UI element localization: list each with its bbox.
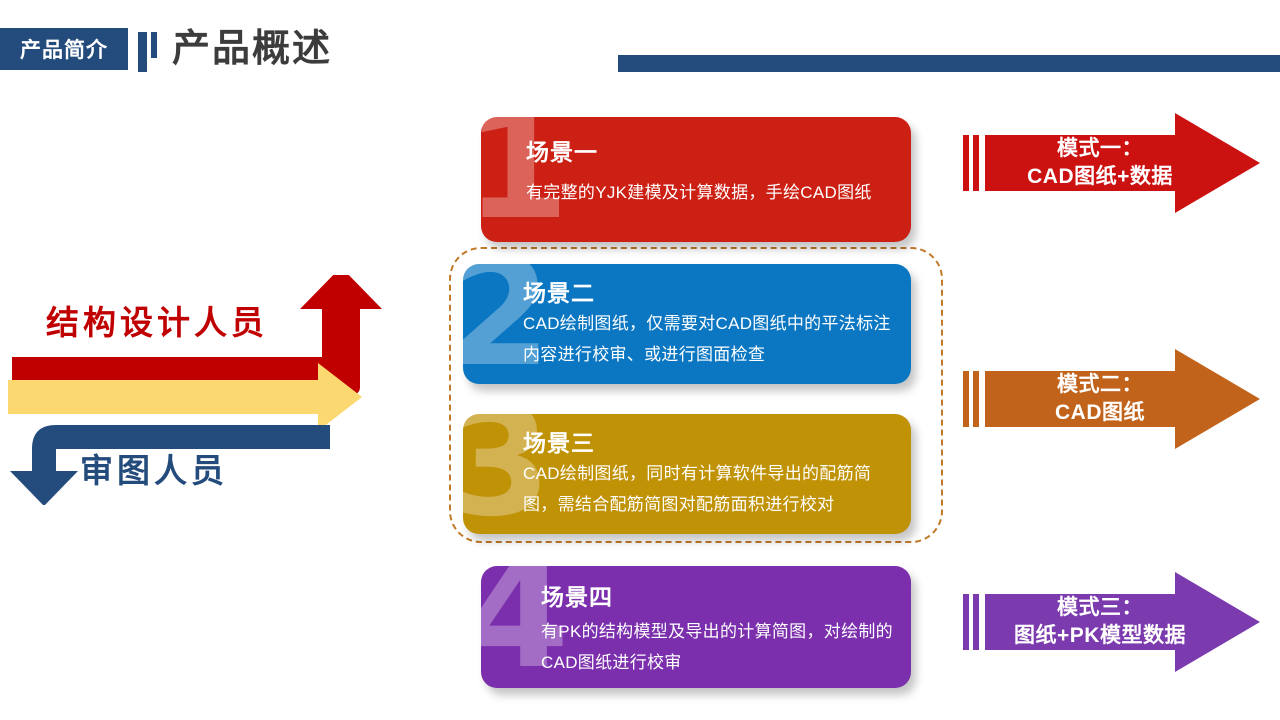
scenario-body-1: 有完整的YJK建模及计算数据，手绘CAD图纸 bbox=[526, 177, 898, 208]
page-title: 产品概述 bbox=[172, 26, 332, 72]
scenario-title-3: 场景三 bbox=[523, 424, 595, 458]
mode-line2-3: 图纸+PK模型数据 bbox=[1014, 622, 1186, 650]
mode-line1-2: 模式二： bbox=[1057, 371, 1143, 399]
scenario-title-1: 场景一 bbox=[526, 133, 598, 167]
header-rule bbox=[618, 55, 1280, 72]
role-label-reviewer: 审图人员 bbox=[80, 444, 340, 492]
scenario-body-4: 有PK的结构模型及导出的计算简图，对绘制的CAD图纸进行校审 bbox=[541, 616, 913, 678]
mode-arrow-text-3: 模式三： 图纸+PK模型数据 bbox=[1005, 572, 1195, 672]
mode-arrow-2[interactable]: 模式二： CAD图纸 bbox=[963, 349, 1260, 449]
mode-line1-1: 模式一： bbox=[1057, 135, 1143, 163]
scenario-card-4[interactable]: 4 场景四 有PK的结构模型及导出的计算简图，对绘制的CAD图纸进行校审 bbox=[481, 566, 911, 688]
section-tab-badge: 产品简介 bbox=[0, 28, 128, 70]
slide-canvas: 产品简介 产品概述 结构设计人员 审图人员 1 场景一 有完整的YJK建模及计算… bbox=[0, 0, 1280, 720]
scenario-card-1[interactable]: 1 场景一 有完整的YJK建模及计算数据，手绘CAD图纸 bbox=[481, 117, 911, 242]
section-tab-label: 产品简介 bbox=[20, 34, 108, 64]
role-label-designer: 结构设计人员 bbox=[46, 296, 366, 344]
scenario-body-3: CAD绘制图纸，同时有计算软件导出的配筋简图，需结合配筋简图对配筋面积进行校对 bbox=[523, 458, 903, 520]
scenario-card-3[interactable]: 3 场景三 CAD绘制图纸，同时有计算软件导出的配筋简图，需结合配筋简图对配筋面… bbox=[463, 414, 911, 534]
mode-arrow-1[interactable]: 模式一： CAD图纸+数据 bbox=[963, 113, 1260, 213]
scenario-title-4: 场景四 bbox=[541, 578, 613, 612]
scenario-body-2: CAD绘制图纸，仅需要对CAD图纸中的平法标注内容进行校审、或进行图面检查 bbox=[523, 308, 903, 370]
mode-line2-1: CAD图纸+数据 bbox=[1027, 163, 1173, 191]
mode-line2-2: CAD图纸 bbox=[1055, 399, 1145, 427]
mode-line1-3: 模式三： bbox=[1057, 594, 1143, 622]
scenario-card-2[interactable]: 2 场景二 CAD绘制图纸，仅需要对CAD图纸中的平法标注内容进行校审、或进行图… bbox=[463, 264, 911, 384]
mode-arrow-text-2: 模式二： CAD图纸 bbox=[1005, 349, 1195, 449]
title-accent-bars-icon bbox=[138, 32, 164, 72]
mode-arrow-3[interactable]: 模式三： 图纸+PK模型数据 bbox=[963, 572, 1260, 672]
scenario-title-2: 场景二 bbox=[523, 274, 595, 308]
mode-arrow-text-1: 模式一： CAD图纸+数据 bbox=[1005, 113, 1195, 213]
